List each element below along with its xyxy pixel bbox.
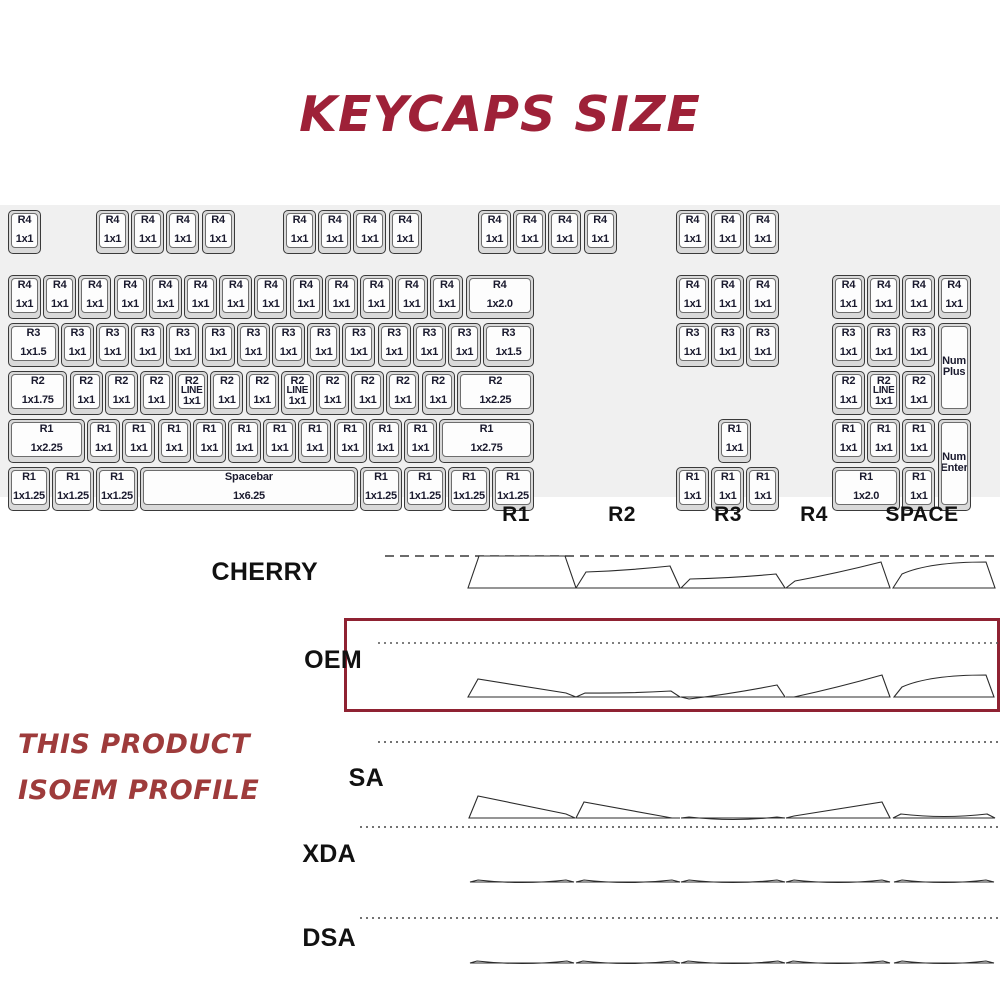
keycap-r4-1x1: R41x1 [290,275,323,319]
keycap-row-label: R2 [150,376,164,387]
keycap-row-label: R3 [246,328,260,339]
keycap-face: R41x1 [749,213,776,248]
keycap-r2-1x1: R21x1 [105,371,138,415]
keycap-face: R41x1 [152,278,179,313]
keycap-size-label: 1x1 [456,347,473,358]
keycap-r4-1x1: R41x1 [513,210,546,254]
keyboard-row-function-row: R41x1R41x1R41x1R41x1R41x1R41x1R41x1R41x1… [0,210,1000,254]
keycap-face: R21x1 [425,374,452,409]
keycap-row-label: R3 [912,328,926,339]
keycap-r4-1x1: R41x1 [114,275,147,319]
keycap-size-label: 1x1 [326,234,343,245]
keycap-size-label: 1x1 [113,395,130,406]
keycap-row-label: R3 [106,328,120,339]
keycap-r1-1x1: R11x1 [158,419,191,463]
keycap-row-label: R3 [842,328,856,339]
keycap-face: R31x1 [381,326,408,361]
keycap-size-label: 1x1 [139,347,156,358]
profile-row-label-oem: OEM [202,646,362,675]
keycap-size-label: 1x1 [403,299,420,310]
keycap-row-label: R4 [721,215,735,226]
keycap-size-label: 1x2.25 [479,395,511,406]
keycap-face: R31x1 [134,326,161,361]
keycap-r4-1x1: R41x1 [219,275,252,319]
keycap-face: R21x1 [905,374,932,409]
keycap-face: R41x1 [321,213,348,248]
keycap-face: R31x1 [169,326,196,361]
keycap-r4-1x1: R41x1 [78,275,111,319]
keycap-size-label: 1x1 [201,443,218,454]
keycap-face: R41x1 [749,278,776,313]
keycap-r2-1x2_25: R21x2.25 [457,371,534,415]
keycap-r3-1x1: R31x1 [413,323,446,367]
keycap-row-label: R2 [431,376,445,387]
keycap-face: R31x1 [416,326,443,361]
keycap-row-label: R1 [132,424,146,435]
keycap-r4-1x1: R41x1 [832,275,865,319]
keycap-r4-1x1: R41x1 [283,210,316,254]
keycap-size-label: 1x1 [218,395,235,406]
keycap-row-label: R4 [106,215,120,226]
keycap-r4-1x1: R41x1 [676,210,709,254]
keycap-r4-1x1: R41x1 [478,210,511,254]
keycap-size-label: 1x1 [754,234,771,245]
keycap-face: R21x1 [319,374,346,409]
keycap-r1-1x1: R11x1 [193,419,226,463]
keycap-row-label: R1 [97,424,111,435]
keycap-row-label: R1 [462,472,476,483]
keycap-face: R41x1 [398,278,425,313]
keycap-r4-1x1: R41x1 [325,275,358,319]
keycap-size-label: 1x1 [350,347,367,358]
keycap-face: R21x1 [73,374,100,409]
keycap-r1-1x1: R11x1 [404,419,437,463]
keycap-face: R41x1 [328,278,355,313]
keycap-size-label: 1x1 [69,347,86,358]
keycap-row-label: R1 [308,424,322,435]
keycap-face: R2LINE1x1 [178,374,205,409]
keycap-face: R31x1 [714,326,741,361]
keycap-row-label: R4 [493,280,507,291]
keycap-row-label: R2 [255,376,269,387]
keycap-face: R21x1 [354,374,381,409]
keycap-r2-1x1: R21x1 [140,371,173,415]
keycap-size-label: 1x1 [910,299,927,310]
keycap-row-label: R4 [211,215,225,226]
keycap-face: R31x1 [749,326,776,361]
keycap-row-label: R1 [374,472,388,483]
keycap-r4-1x1: R41x1 [43,275,76,319]
keycap-row-label: R3 [26,328,40,339]
keycap-size-label: 1x2.25 [31,443,63,454]
keycap-r1-1x1: R11x1 [902,419,935,463]
keycap-r4-1x1: R41x1 [867,275,900,319]
keycap-row-label: R4 [440,280,454,291]
keycap-size-label: 1x1 [236,443,253,454]
keycap-face: R41x1 [257,278,284,313]
keycap-r4-1x1: R41x1 [711,275,744,319]
keycap-row-label: R2 [488,376,502,387]
keycap-size-label: 1x1 [192,299,209,310]
keycap-row-label: R4 [123,280,137,291]
keycap-r4-1x1: R41x1 [254,275,287,319]
keycap-r2-1x1: R21x1 [316,371,349,415]
keycap-face: R41x1 [187,278,214,313]
keycap-size-label: 1x1 [684,347,701,358]
keycap-row-label: R1 [40,424,54,435]
keycap-size-label: 1x1 [385,347,402,358]
keyboard-row-number-row: R41x1R41x1R41x1R41x1R41x1R41x1R41x1R41x1… [0,275,1000,319]
keycap-row-label: R2 [114,376,128,387]
profile-column-header-r3: R3 [678,503,778,527]
keycap-r3-1x1: R31x1 [237,323,270,367]
keycap-size-label: 1x1 [910,347,927,358]
keycap-face: R21x1.75 [11,374,64,409]
keycap-size-label: 1x1 [421,347,438,358]
keycap-size-label: 1x1 [209,234,226,245]
keycap-size-label: 1x1 [95,443,112,454]
keycap-row-label: R4 [141,215,155,226]
keycap-face: R21x1 [108,374,135,409]
keycap-r3-1x1_5: R31x1.5 [8,323,59,367]
keycap-face: R11x2.75 [442,422,531,457]
keycap-face: R11x1 [161,422,188,457]
keycap-size-label: 1x1 [754,299,771,310]
keycap-row-label: R2 [842,376,856,387]
keycap-face: R41x1 [870,278,897,313]
keycap-r2-1x1: R2LINE1x1 [175,371,208,415]
keycap-size-label: 1x1 [840,395,857,406]
keycap-face: R41x1 [714,213,741,248]
keycap-row-label: R2 [220,376,234,387]
keycap-row-label: R4 [229,280,243,291]
keycap-size-label: 1x1 [139,234,156,245]
keycap-r3-1x1: R31x1 [867,323,900,367]
keycap-size-label: 1x1 [521,234,538,245]
keycap-row-label: R1 [912,472,926,483]
keycap-face: R31x1 [451,326,478,361]
keycap-size-label: 1x1 [341,443,358,454]
page-title: KEYCAPS SIZE [0,86,1000,143]
keycap-size-label: 1x2.0 [487,299,513,310]
keycap-size-label: 1x1 [148,395,165,406]
keycap-face: R11x1 [90,422,117,457]
keycap-size-label: 1x2.75 [471,443,503,454]
keycap-size-label: 1x1 [183,396,200,407]
keycap-r4-1x1: R41x1 [353,210,386,254]
keycap-face: R41x1 [363,278,390,313]
keycap-size-label: 1x1 [253,395,270,406]
keycap-size-label: 1x1 [396,234,413,245]
keycap-face: R11x1 [407,422,434,457]
keycap-face: R21x1 [389,374,416,409]
keycap-face: R11x1 [337,422,364,457]
profile-column-header-space: SPACE [872,503,972,527]
keycap-size-label: 1x1.75 [22,395,54,406]
keycap-r1-1x2_75: R11x2.75 [439,419,534,463]
keycap-face: R41x2.0 [469,278,531,313]
keycap-row-label: R3 [176,328,190,339]
keycap-row-label: R1 [506,472,520,483]
keycap-face: R41x1 [117,278,144,313]
keycap-face: R31x1 [205,326,232,361]
keycap-row-label: R1 [167,424,181,435]
profile-row-label-xda: XDA [196,840,356,869]
keycap-r3-1x1: R31x1 [378,323,411,367]
keycap-row-label: R4 [686,280,700,291]
keycap-size-label: 1x1 [726,443,743,454]
keycap-size-label: 1x1.5 [20,347,46,358]
keycap-size-label: 1x1 [86,299,103,310]
keycap-face: R41x1 [99,213,126,248]
keycap-r3-1x1: R31x1 [272,323,305,367]
keycap-r3-1x1: R31x1 [131,323,164,367]
keycap-r4-1x2_0: R41x2.0 [466,275,534,319]
keycap-r3-1x1: R31x1 [61,323,94,367]
keycap-row-label: R3 [282,328,296,339]
keycap-face: R41x1 [481,213,508,248]
keycap-face: R31x1 [835,326,862,361]
keycap-face: R31x1 [310,326,337,361]
keycap-r4-1x1: R41x1 [8,210,41,254]
keycap-row-label: R4 [328,215,342,226]
keycap-face: R11x1 [301,422,328,457]
keycap-r2-1x1: R2LINE1x1 [281,371,314,415]
keycap-size-label: 1x1 [910,443,927,454]
keycap-face: R41x1 [81,278,108,313]
keycap-size-label: 1x1 [121,299,138,310]
keycap-row-label: R3 [141,328,155,339]
keycap-size-label: 1x1 [684,234,701,245]
keycap-face: R41x1 [11,213,38,248]
keycap-face: R11x1 [125,422,152,457]
keycap-row-label: R4 [488,215,502,226]
keycap-face: R11x1 [266,422,293,457]
keycap-r1-1x1: R11x1 [334,419,367,463]
profile-column-header-r1: R1 [466,503,566,527]
keycap-row-label: R3 [352,328,366,339]
keycap-row-label: R4 [293,215,307,226]
keycap-row-label: R1 [378,424,392,435]
keycap-face: R11x1 [721,422,748,457]
keycap-row-label: R1 [877,424,891,435]
keycap-row-label: R4 [593,215,607,226]
keycap-face: R41x1 [205,213,232,248]
keycap-face: R31x1 [905,326,932,361]
keycap-r1-1x1: R11x1 [87,419,120,463]
keycap-size-label: 1x1 [104,347,121,358]
keycap-r4-1x1: R41x1 [395,275,428,319]
keycap-r4-1x1: R41x1 [202,210,235,254]
keycap-face: R11x1 [196,422,223,457]
keycap-row-label: R4 [877,280,891,291]
keycap-row-label: R4 [370,280,384,291]
keycap-row-label: R4 [176,215,190,226]
keycap-r4-1x1: R41x1 [430,275,463,319]
keycap-r1-1x1: R11x1 [832,419,865,463]
keycap-row-label: R4 [756,215,770,226]
this-product-line2: ISOEM PROFILE [18,768,259,814]
keycap-face: R41x1 [679,213,706,248]
keycap-r4-1x1: R41x1 [389,210,422,254]
keycap-row-label: R1 [418,472,432,483]
keycap-face: R31x1.5 [11,326,56,361]
keycap-row-label: R1 [22,472,36,483]
keycap-r2-1x1: R21x1 [351,371,384,415]
keycap-size-label: 1x1 [840,347,857,358]
keycap-row-label: R2 [326,376,340,387]
keycap-size-label: 1x1 [262,299,279,310]
keycap-size-label: 1x1.5 [495,347,521,358]
keycap-r4-1x1: R41x1 [166,210,199,254]
keycap-r4-1x1: R41x1 [676,275,709,319]
keycap-row-label: R4 [756,280,770,291]
keycap-row-label: R1 [756,472,770,483]
keycap-face: R11x1 [835,422,862,457]
keycap-size-label: 1x1 [16,234,33,245]
keycap-size-label: 1x1 [130,443,147,454]
keycap-size-label: 1x1 [174,234,191,245]
keycap-face: R41x1 [587,213,614,248]
keycap-row-label: R4 [912,280,926,291]
keycap-row-label: R1 [66,472,80,483]
keycap-size-label: 1x1 [429,395,446,406]
keycap-size-label: 1x1 [227,299,244,310]
keycap-row-label: R1 [728,424,742,435]
keycap-r2-1x1: R2LINE1x1 [867,371,900,415]
keycap-r4-1x1: R41x1 [318,210,351,254]
keycap-r2-1x1: R21x1 [246,371,279,415]
keycap-size-label: 1x1 [875,396,892,407]
keycap-r4-1x1: R41x1 [149,275,182,319]
keycap-face: R2LINE1x1 [870,374,897,409]
keycap-row-label: R4 [363,215,377,226]
keycap-face: R41x1 [169,213,196,248]
keycap-row-label: R1 [480,424,494,435]
keycap-row-label: R4 [398,215,412,226]
keycap-face: R41x1 [356,213,383,248]
keycap-size-label: 1x1 [875,443,892,454]
keycap-r3-1x1: R31x1 [166,323,199,367]
keycap-r4-1x1: R41x1 [96,210,129,254]
keycap-row-label: R3 [721,328,735,339]
keycap-r2-1x1: R21x1 [902,371,935,415]
keycap-size-label: 1x1 [394,395,411,406]
keycap-size-label: 1x1 [754,347,771,358]
keycap-r3-1x1: R31x1 [746,323,779,367]
keycap-face: R41x1 [714,278,741,313]
keycap-r3-1x1: R31x1 [676,323,709,367]
keycap-size-label: 1x1 [289,396,306,407]
this-product-line1: THIS PRODUCT [18,722,259,768]
keycap-r3-1x1: R31x1 [307,323,340,367]
keycap-size-label: 1x1 [556,234,573,245]
keycap-row-label: R4 [686,215,700,226]
keycap-face: R2LINE1x1 [284,374,311,409]
keycap-row-label: R4 [194,280,208,291]
keycap-face: R21x1 [835,374,862,409]
keycap-size-label: 1x1 [875,299,892,310]
keycap-row-label: R4 [558,215,572,226]
keycap-size-label: 1x1 [306,443,323,454]
keycap-size-label: 1x1 [104,234,121,245]
keycap-r3-1x1: R31x1 [96,323,129,367]
keycap-face: R11x1 [231,422,258,457]
keycap-face: R41x1 [551,213,578,248]
keycap-row-label: R3 [502,328,516,339]
keycap-r3-1x1_5: R31x1.5 [483,323,534,367]
keycap-row-label: R1 [343,424,357,435]
keycap-face: R41x1 [516,213,543,248]
keycap-size-label: 1x1 [486,234,503,245]
keycap-r3-1x1: R31x1 [202,323,235,367]
keycap-r3-1x1: R31x1 [711,323,744,367]
keycap-face: R41x1 [222,278,249,313]
keycap-size-label: 1x1 [77,395,94,406]
keycap-face: R31x1 [99,326,126,361]
keycap-row-label: R4 [299,280,313,291]
keycap-face: R31x1 [679,326,706,361]
keycap-r4-1x1: R41x1 [548,210,581,254]
keyboard-row-shift-row: R11x2.25R11x1R11x1R11x1R11x1R11x1R11x1R1… [0,419,1000,463]
keycap-r1-1x1: R11x1 [867,419,900,463]
keycap-row-label: R2 [361,376,375,387]
keycap-row-label: R1 [686,472,700,483]
keycap-face: R41x1 [835,278,862,313]
keycap-row-label: Spacebar [225,472,273,483]
keycap-r2-1x1: R21x1 [210,371,243,415]
keycap-r3-1x1: R31x1 [902,323,935,367]
keycap-r4-1x1: R41x1 [184,275,217,319]
keycap-face: R11x1 [372,422,399,457]
keycap-face: R41x1 [679,278,706,313]
keycap-r4-1x1: R41x1 [131,210,164,254]
keycap-row-label: R2 [396,376,410,387]
keycap-r1-1x1: R11x1 [122,419,155,463]
keycap-row-label: R1 [842,424,856,435]
keycap-r4-1x1: R41x1 [360,275,393,319]
keycap-r2-1x1: R21x1 [386,371,419,415]
keycap-r4-1x1: R41x1 [902,275,935,319]
keycap-row-label: R4 [721,280,735,291]
keycap-size-label: 1x1 [719,299,736,310]
keycap-size-label: 1x1 [684,299,701,310]
keycap-face: R31x1 [345,326,372,361]
keycap-row-label: R4 [264,280,278,291]
keycap-face: R41x1 [11,278,38,313]
keycap-r1-1x1: R11x1 [263,419,296,463]
keycap-row-label: R1 [273,424,287,435]
keycap-size-label: 1x1 [271,443,288,454]
keycap-size-label: 1x1 [875,347,892,358]
keycap-row-label: R3 [211,328,225,339]
keycap-size-label: 1x1 [245,347,262,358]
keyboard-row-tab-row: R31x1.5R31x1R31x1R31x1R31x1R31x1R31x1R31… [0,323,1000,367]
keycap-size-label: 1x1 [719,347,736,358]
keycap-r2-1x1: R21x1 [832,371,865,415]
keycap-row-label: R4 [947,280,961,291]
keycap-row-label: R1 [721,472,735,483]
keycap-face: R21x1 [213,374,240,409]
keycap-r1-1x1: R11x1 [718,419,751,463]
keycap-face: R41x1 [941,278,968,313]
keycap-face: R31x1 [275,326,302,361]
keycap-row-label: R1 [110,472,124,483]
keycap-row-label: R4 [53,280,67,291]
keycap-row-label: R3 [458,328,472,339]
keycap-face: R31x1 [240,326,267,361]
keycap-r1-1x1: R11x1 [228,419,261,463]
